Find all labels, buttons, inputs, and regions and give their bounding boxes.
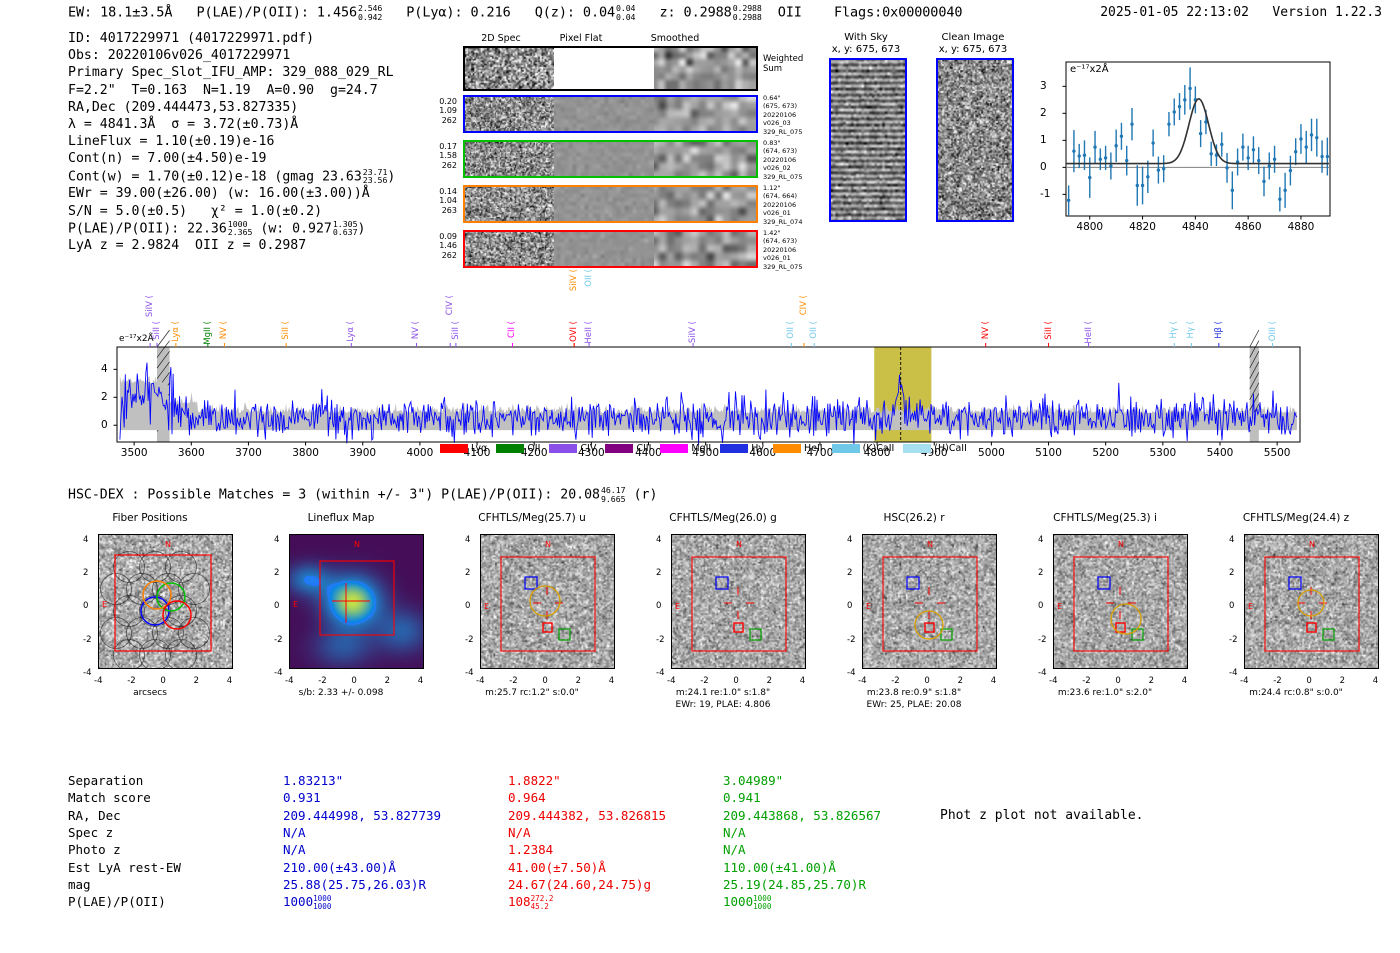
thumbnail-ytick: -4 <box>274 668 282 678</box>
fiber-left-line-2: 262 <box>423 161 457 170</box>
info-cont-wide: Cont(w) = 1.70(±0.12)e-18 (gmag 23.6323.… <box>68 168 395 186</box>
spectrum-line-label-OII: OII ( <box>786 321 796 339</box>
legend-swatch-Lyα <box>440 444 468 453</box>
table-cell-r7-c1: 108272.245.2 <box>508 893 553 911</box>
legend-label-(K)CaII: (K)CaII <box>863 443 895 454</box>
thumbnail-caption-0: arcsecs <box>55 688 245 700</box>
matches-title: HSC-DEX : Possible Matches = 3 (within +… <box>68 486 657 503</box>
thumbnail-ytick: 0 <box>465 601 470 611</box>
thumbnail-caption-line1-3: m:24.1 re:1.0" s:1.8" <box>628 688 818 700</box>
thumbnail-xtick: -4 <box>667 676 675 686</box>
thumbnail-xtick: 4 <box>418 676 423 686</box>
fiber-pixelflat-3 <box>554 232 654 266</box>
fiber-right-label-0: 0.64"(675, 673)20220106v026_03329_RL_075 <box>763 94 825 136</box>
info-primary-slot: Primary Spec_Slot_IFU_AMP: 329_088_029_R… <box>68 64 395 81</box>
svg-text:N: N <box>1309 540 1315 549</box>
thumbnail-xtick: 2 <box>385 676 390 686</box>
emission-xtick: 4880 <box>1288 221 1315 233</box>
fiber-left-line-0: 0.17 <box>423 142 457 151</box>
spectrum-line-label-Hγ: Hγ ( <box>1169 321 1179 338</box>
with-sky-title: With Sky <box>816 32 916 44</box>
thumbnail-xtick: -4 <box>1240 676 1248 686</box>
fiber-strip-3 <box>463 230 758 268</box>
header-z-range: 0.29880.2988 <box>733 4 762 21</box>
two-d-spectra-panel: 2D SpecPixel FlatSmoothedWeighted Sum0.2… <box>415 33 815 248</box>
thumbnail-ytick: 2 <box>1038 568 1043 578</box>
fiber-2dspec-0 <box>465 97 554 131</box>
thumbnail-caption-1: s/b: 2.33 +/- 0.098 <box>246 688 436 700</box>
thumbnail-xtick: 4 <box>1373 676 1378 686</box>
thumbnail-title-6: CFHTLS/Meg(24.4) z <box>1201 512 1391 528</box>
header-summary-line: EW: 18.1±3.5Å P(LAE)/P(OII): 1.4562.5460… <box>68 4 962 21</box>
thumbnail-ytick: 4 <box>274 535 279 545</box>
emission-ytick: 3 <box>1040 80 1047 92</box>
thumbnail-ytick: -4 <box>83 668 91 678</box>
fiber-right-line-2: 20220106 <box>763 201 825 209</box>
table-row-label-2: RA, Dec <box>68 807 121 824</box>
legend-swatch-CIII <box>605 444 633 453</box>
spectrum-line-label-OII: OII ( <box>584 269 594 287</box>
info-plae-range: 10002.365 <box>228 220 253 237</box>
thumbnail-overlay-6: NE <box>1245 535 1378 668</box>
svg-text:N: N <box>927 540 933 549</box>
spectrum-line-label-CII: CII ( <box>507 321 517 338</box>
info-lambda-sigma: λ = 4841.3Å σ = 3.72(±0.73)Å <box>68 116 395 133</box>
emission-line-plot: 48004820484048604880-10123e⁻¹⁷x2Å <box>1036 56 1336 246</box>
header-plya: P(Lyα): 0.216 <box>406 5 510 21</box>
fiber-right-line-0: 1.12" <box>763 184 825 192</box>
with-sky-image <box>829 58 907 222</box>
legend-label-(H)CaII: (H)CaII <box>934 443 967 454</box>
header-plae-label: P(LAE)/P(OII): 1.456 <box>196 5 357 21</box>
fiber-right-line-4: 329_RL_075 <box>763 128 825 136</box>
thumbnail-ytick: -2 <box>847 635 855 645</box>
info-redshifts: LyA z = 2.9824 OII z = 0.2987 <box>68 237 395 254</box>
thumbnail-overlay-2: NE <box>481 535 614 668</box>
emission-xtick: 4860 <box>1235 221 1262 233</box>
fiber-left-line-2: 262 <box>423 116 457 125</box>
spectrum-ytick: 4 <box>101 363 108 375</box>
table-cell-r0-c0: 1.83213" <box>283 772 343 789</box>
table-cell-r2-c2: 209.443868, 53.826567 <box>723 807 881 824</box>
info-radec: RA,Dec (209.444473,53.827335) <box>68 99 395 116</box>
legend-item-(K)CaII: (K)CaII <box>832 443 895 454</box>
spectrum-xtick: 3500 <box>121 447 148 459</box>
table-cell-r6-c2: 25.19(24.85,25.70)R <box>723 876 866 893</box>
fiber-left-label-1: 0.171.58262 <box>423 142 457 170</box>
thumbnail-caption-line1-1: s/b: 2.33 +/- 0.098 <box>246 688 436 700</box>
spectrum-ytick: 2 <box>101 391 108 403</box>
spectrum-line-label-Hβ: Hβ ( <box>1214 321 1224 339</box>
thumbnail-xtick: 0 <box>160 676 165 686</box>
fiber-left-line-0: 0.20 <box>423 97 457 106</box>
thumbnail-caption-6: m:24.4 rc:0.8" s:0.0" <box>1201 688 1391 700</box>
thumbnail-xtick: -4 <box>858 676 866 686</box>
fiber-right-line-2: 20220106 <box>763 156 825 164</box>
table-cell-r0-c1: 1.8822" <box>508 772 561 789</box>
thumbnail-ytick: 2 <box>465 568 470 578</box>
fiber-left-line-1: 1.46 <box>423 241 457 250</box>
thumbnail-title-4: HSC(26.2) r <box>819 512 1009 528</box>
table-row-label-6: mag <box>68 876 91 893</box>
info-ewr: EWr = 39.00(±26.00) (w: 16.00(±3.00))Å <box>68 185 395 202</box>
table-cell-r6-c0: 25.88(25.75,26.03)R <box>283 876 426 893</box>
plae-range: 10001000 <box>313 895 331 911</box>
spec-column-title-0: 2D Spec <box>481 33 521 44</box>
fiber-smoothed-2 <box>654 187 756 221</box>
thumbnail-xtick: 0 <box>1306 676 1311 686</box>
emission-ytick: 2 <box>1040 107 1047 119</box>
legend-swatch-MgII <box>660 444 688 453</box>
weighted-sum-smoothed <box>654 48 756 89</box>
detection-info-block: ID: 4017229971 (4017229971.pdf)Obs: 2022… <box>68 30 395 255</box>
spectrum-line-label-SiIV: SiIV ( <box>688 321 698 343</box>
fiber-smoothed-0 <box>654 97 756 131</box>
legend-swatch-(H)CaII <box>903 444 931 453</box>
thumbnail-xtick: 0 <box>1115 676 1120 686</box>
table-cell-r2-c1: 209.444382, 53.826815 <box>508 807 666 824</box>
thumbnail-ytick: 4 <box>847 535 852 545</box>
spectrum-line-label-SiIV: SiIV ( <box>569 269 579 291</box>
emission-ytick: 1 <box>1040 134 1047 146</box>
weighted-sum-strip <box>463 46 758 91</box>
thumbnail-xtick: 0 <box>351 676 356 686</box>
legend-label-CIII: CIII <box>636 443 651 454</box>
thumbnail-caption-3: m:24.1 re:1.0" s:1.8"EWr: 19, PLAE: 4.80… <box>628 688 818 711</box>
thumbnail-panel-6[interactable]: CFHTLS/Meg(24.4) zNE420-2-4-4-2024m:24.4… <box>1201 512 1391 669</box>
with-sky-coords: x, y: 675, 673 <box>816 44 916 56</box>
header-ew: EW: 18.1±3.5Å <box>68 5 172 21</box>
thumbnail-ytick: 0 <box>656 601 661 611</box>
legend-swatch-CIV <box>549 444 577 453</box>
spectrum-xtick: 5200 <box>1092 447 1119 459</box>
thumbnail-panel-3[interactable]: CFHTLS/Meg(26.0) gNE420-2-4-4-2024m:24.1… <box>628 512 818 669</box>
fiber-right-label-2: 1.12"(674, 664)20220106v026_01329_RL_074 <box>763 184 825 226</box>
emission-flux-units: e⁻¹⁷x2Å <box>1070 64 1109 75</box>
thumbnail-xtick: -2 <box>1273 676 1281 686</box>
thumbnail-xtick: 0 <box>542 676 547 686</box>
weighted-sum-2dspec <box>465 48 554 89</box>
svg-text:E: E <box>293 600 298 609</box>
thumbnail-ytick: 2 <box>847 568 852 578</box>
spectrum-line-label-Lyα: Lyα ( <box>171 321 181 342</box>
info-gmag-range: 23.7123.56 <box>363 168 388 185</box>
thumbnail-overlay-1: NE <box>290 535 423 668</box>
svg-text:E: E <box>102 600 107 609</box>
fiber-left-label-2: 0.141.04263 <box>423 187 457 215</box>
legend-swatch-OII <box>496 444 524 453</box>
spectrum-xtick: 5500 <box>1264 447 1291 459</box>
spectrum-line-label-CIV: CIV ( <box>799 295 809 315</box>
thumbnail-caption-line1-5: m:23.6 re:1.0" s:2.0" <box>1010 688 1200 700</box>
thumbnail-image-4[interactable]: NE <box>862 534 997 669</box>
header-z-kind: OII <box>778 5 802 21</box>
legend-swatch-HeII <box>773 444 801 453</box>
fiber-pixelflat-0 <box>554 97 654 131</box>
legend-item-MgII: MgII <box>660 443 711 454</box>
thumbnail-ytick: 0 <box>274 601 279 611</box>
table-cell-r1-c1: 0.964 <box>508 789 546 806</box>
thumbnail-panel-2[interactable]: CFHTLS/Meg(25.7) uNE420-2-4-4-2024m:25.7… <box>437 512 627 669</box>
table-cell-r5-c0: 210.00(±43.00)Å <box>283 859 396 876</box>
thumbnail-ytick: -2 <box>1038 635 1046 645</box>
spectrum-legend: LyαOIICIVCIIIMgIIHγHeII(K)CaII(H)CaII <box>440 443 967 454</box>
table-cell-r7-c0: 100010001000 <box>283 893 331 911</box>
fiber-smoothed-1 <box>654 142 756 176</box>
spectrum-line-label-NV: NV ( <box>981 321 991 339</box>
thumbnail-xtick: 4 <box>227 676 232 686</box>
thumbnail-ytick: 4 <box>1038 535 1043 545</box>
table-cell-r5-c2: 110.00(±41.00)Å <box>723 859 836 876</box>
table-cell-r3-c1: N/A <box>508 824 531 841</box>
plae-range: 10001000 <box>753 895 771 911</box>
clean-image-title: Clean Image <box>918 32 1028 44</box>
thumbnail-caption-4: m:23.8 re:0.9" s:1.8"EWr: 25, PLAE: 20.0… <box>819 688 1009 711</box>
info-seeing-throughput: F=2.2" T=0.163 N=1.19 A=0.90 g=24.7 <box>68 82 395 99</box>
thumbnail-xtick: 0 <box>924 676 929 686</box>
thumbnail-xtick: 0 <box>733 676 738 686</box>
info-sn-chi2: S/N = 5.0(±0.5) χ² = 1.0(±0.2) <box>68 203 395 220</box>
weighted-sum-label: Weighted Sum <box>763 54 803 74</box>
table-row-label-0: Separation <box>68 772 143 789</box>
svg-text:E: E <box>675 602 680 611</box>
legend-label-Lyα: Lyα <box>471 443 487 454</box>
thumbnail-image-6[interactable]: NE <box>1244 534 1379 669</box>
thumbnail-caption-line1-4: m:23.8 re:0.9" s:1.8" <box>819 688 1009 700</box>
spectrum-xtick: 3900 <box>349 447 376 459</box>
svg-text:N: N <box>545 540 551 549</box>
header-flags: Flags:0x00000040 <box>834 5 962 21</box>
table-row-label-4: Photo z <box>68 841 121 858</box>
legend-item-OII: OII <box>496 443 540 454</box>
emission-line-svg <box>1036 56 1336 246</box>
fiber-2dspec-2 <box>465 187 554 221</box>
table-cell-r4-c1: 1.2384 <box>508 841 553 858</box>
table-cell-r1-c2: 0.941 <box>723 789 761 806</box>
thumbnail-xtick: 2 <box>767 676 772 686</box>
thumbnail-overlay-4: NE <box>863 535 996 668</box>
clean-image-coords: x, y: 675, 673 <box>918 44 1028 56</box>
fiber-2dspec-1 <box>465 142 554 176</box>
spectrum-xtick: 5300 <box>1149 447 1176 459</box>
thumbnail-title-0: Fiber Positions <box>55 512 245 528</box>
plae-lo: 1000 <box>313 903 331 911</box>
emission-xtick: 4840 <box>1182 221 1209 233</box>
thumbnail-panel-0[interactable]: Fiber PositionsNE420-2-4-4-2024arcsecs <box>55 512 245 669</box>
thumbnail-title-2: CFHTLS/Meg(25.7) u <box>437 512 627 528</box>
thumbnail-xtick: 4 <box>800 676 805 686</box>
table-cell-r7-c2: 100010001000 <box>723 893 771 911</box>
fiber-right-label-3: 1.42"(674, 673)20220106v026_01329_RL_075 <box>763 229 825 271</box>
fiber-left-line-2: 262 <box>423 251 457 260</box>
svg-text:N: N <box>1118 540 1124 549</box>
fiber-left-line-1: 1.04 <box>423 196 457 205</box>
legend-item-CIII: CIII <box>605 443 651 454</box>
spectrum-line-label-OVI: OVI ( <box>569 321 579 342</box>
svg-text:E: E <box>1248 602 1253 611</box>
spectrum-line-label-SiII: SiII ( <box>451 321 461 340</box>
thumbnail-image-5[interactable]: NE <box>1053 534 1188 669</box>
thumbnail-image-1[interactable]: NE <box>289 534 424 669</box>
fiber-left-line-2: 263 <box>423 206 457 215</box>
spectrum-line-label-MgII: MgII ( <box>203 321 213 345</box>
thumbnail-xtick: -2 <box>509 676 517 686</box>
thumbnail-xtick: -2 <box>318 676 326 686</box>
svg-text:E: E <box>484 602 489 611</box>
thumbnail-title-3: CFHTLS/Meg(26.0) g <box>628 512 818 528</box>
spectrum-line-label-CIV: CIV ( <box>445 295 455 315</box>
svg-text:N: N <box>354 540 360 549</box>
thumbnail-xtick: 2 <box>194 676 199 686</box>
svg-text:E: E <box>1057 602 1062 611</box>
fiber-pixelflat-2 <box>554 187 654 221</box>
table-row-label-3: Spec z <box>68 824 113 841</box>
spectrum-line-label-SiII: SiII ( <box>1044 321 1054 340</box>
spectrum-ytick: 0 <box>101 419 108 431</box>
thumbnail-image-2[interactable]: NE <box>480 534 615 669</box>
thumbnail-xtick: 2 <box>576 676 581 686</box>
thumbnail-xtick: -4 <box>94 676 102 686</box>
thumbnail-image-0[interactable]: NE <box>98 534 233 669</box>
thumbnail-xtick: -4 <box>476 676 484 686</box>
thumbnail-caption-line2-4: EWr: 25, PLAE: 20.08 <box>819 700 1009 712</box>
thumbnail-ytick: 4 <box>465 535 470 545</box>
thumbnail-ytick: 2 <box>1229 568 1234 578</box>
thumbnail-ytick: 0 <box>83 601 88 611</box>
svg-text:E: E <box>866 602 871 611</box>
thumbnail-ytick: -2 <box>274 635 282 645</box>
thumbnail-ytick: -4 <box>1038 668 1046 678</box>
thumbnail-title-5: CFHTLS/Meg(25.3) i <box>1010 512 1200 528</box>
plae-lo: 45.2 <box>531 903 554 911</box>
legend-item-Hγ: Hγ <box>720 443 764 454</box>
plae-value: 108 <box>508 894 531 909</box>
header-z: z: 0.2988 <box>659 5 731 21</box>
fiber-right-line-4: 329_RL_075 <box>763 173 825 181</box>
fiber-left-line-0: 0.09 <box>423 232 457 241</box>
spectrum-xtick: 5000 <box>978 447 1005 459</box>
thumbnail-overlay-5: NE <box>1054 535 1187 668</box>
legend-item-CIV: CIV <box>549 443 596 454</box>
plae-range: 272.245.2 <box>531 895 554 911</box>
thumbnail-xtick: 4 <box>609 676 614 686</box>
thumbnail-ytick: 2 <box>83 568 88 578</box>
spectrum-line-label-NV: NV ( <box>219 321 229 339</box>
emission-xtick: 4800 <box>1076 221 1103 233</box>
plae-value: 1000 <box>723 894 753 909</box>
thumbnail-xtick: 4 <box>1182 676 1187 686</box>
legend-item-HeII: HeII <box>773 443 823 454</box>
info-obs: Obs: 20220106v026_4017229971 <box>68 47 395 64</box>
spectrum-line-label-Hγ: Hγ ( <box>1186 321 1196 338</box>
fiber-right-line-1: (674, 664) <box>763 192 825 200</box>
spectrum-line-label-NV: NV ( <box>411 321 421 339</box>
thumbnail-ytick: 4 <box>83 535 88 545</box>
emission-ytick: -1 <box>1040 188 1050 200</box>
fiber-strip-1 <box>463 140 758 178</box>
spectrum-xtick: 4000 <box>407 447 434 459</box>
matches-plae-range: 46.179.665 <box>601 486 626 503</box>
thumbnail-overlay-3: NE <box>672 535 805 668</box>
emission-xtick: 4820 <box>1129 221 1156 233</box>
thumbnail-panel-4[interactable]: HSC(26.2) rNE420-2-4-4-2024m:23.8 re:0.9… <box>819 512 1009 669</box>
thumbnail-caption-line1-0: arcsecs <box>55 688 245 700</box>
legend-item-(H)CaII: (H)CaII <box>903 443 967 454</box>
thumbnail-caption-5: m:23.6 re:1.0" s:2.0" <box>1010 688 1200 700</box>
weighted-sum-pixelflat <box>554 48 654 89</box>
spectrum-line-label-SiII: SiII ( <box>281 321 291 340</box>
fiber-strip-2 <box>463 185 758 223</box>
fiber-right-line-0: 0.83" <box>763 139 825 147</box>
thumbnail-ytick: 4 <box>656 535 661 545</box>
fiber-right-label-1: 0.83"(674, 673)20220106v026_02329_RL_075 <box>763 139 825 181</box>
fiber-smoothed-3 <box>654 232 756 266</box>
spectrum-line-label-HeII: HeII ( <box>584 321 594 344</box>
header-version: Version 1.22.3 <box>1272 5 1382 20</box>
thumbnail-xtick: -2 <box>891 676 899 686</box>
thumbnail-panel-5[interactable]: CFHTLS/Meg(25.3) iNE420-2-4-4-2024m:23.6… <box>1010 512 1200 669</box>
header-timestamp: 2025-01-05 22:13:02 <box>1100 5 1249 20</box>
fiber-right-line-2: 20220106 <box>763 111 825 119</box>
legend-label-HeII: HeII <box>804 443 823 454</box>
fiber-right-line-1: (674, 673) <box>763 237 825 245</box>
legend-label-OII: OII <box>527 443 540 454</box>
thumbnail-xtick: -2 <box>1082 676 1090 686</box>
info-cont-narrow: Cont(n) = 7.00(±4.50)e-19 <box>68 150 395 167</box>
thumbnail-xtick: 2 <box>1149 676 1154 686</box>
info-plae: P(LAE)/P(OII): 22.3610002.365 (w: 0.9271… <box>68 220 395 238</box>
svg-text:N: N <box>736 540 742 549</box>
thumbnail-xtick: -4 <box>1049 676 1057 686</box>
fiber-left-line-1: 1.09 <box>423 106 457 115</box>
fiber-right-line-4: 329_RL_074 <box>763 218 825 226</box>
legend-label-Hγ: Hγ <box>751 443 764 454</box>
table-cell-r3-c2: N/A <box>723 824 746 841</box>
fiber-strip-0 <box>463 95 758 133</box>
fiber-left-line-0: 0.14 <box>423 187 457 196</box>
thumbnail-image-3[interactable]: NE <box>671 534 806 669</box>
fiber-right-line-0: 1.42" <box>763 229 825 237</box>
table-cell-r1-c0: 0.931 <box>283 789 321 806</box>
table-cell-r4-c2: N/A <box>723 841 746 858</box>
fiber-right-line-2: 20220106 <box>763 246 825 254</box>
thumbnail-xtick: -4 <box>285 676 293 686</box>
table-cell-r6-c1: 24.67(24.60,24.75)g <box>508 876 651 893</box>
thumbnail-ytick: 2 <box>274 568 279 578</box>
thumbnail-ytick: 0 <box>847 601 852 611</box>
thumbnail-panel-1[interactable]: Lineflux MapNE420-2-4-4-2024s/b: 2.33 +/… <box>246 512 436 669</box>
spectrum-line-label-OIII: OIII ( <box>1268 321 1278 341</box>
fiber-right-line-1: (675, 673) <box>763 102 825 110</box>
thumbnail-xtick: -2 <box>127 676 135 686</box>
thumbnail-xtick: 4 <box>991 676 996 686</box>
legend-label-MgII: MgII <box>691 443 711 454</box>
plae-value: 1000 <box>283 894 313 909</box>
table-row-label-1: Match score <box>68 789 151 806</box>
info-lineflux: LineFlux = 1.10(±0.19)e-16 <box>68 133 395 150</box>
fiber-right-line-3: v026_01 <box>763 209 825 217</box>
plae-lo: 1000 <box>753 903 771 911</box>
thumbnail-title-1: Lineflux Map <box>246 512 436 528</box>
spectrum-line-label-HeII: HeII ( <box>1084 321 1094 344</box>
header-qz: Q(z): 0.04 <box>535 5 615 21</box>
thumbnail-caption-line1-6: m:24.4 rc:0.8" s:0.0" <box>1201 688 1391 700</box>
thumbnail-caption-2: m:25.7 rc:1.2" s:0.0" <box>437 688 627 700</box>
thumbnail-ytick: 2 <box>656 568 661 578</box>
table-row-label-5: Est LyA rest-EW <box>68 859 181 876</box>
thumbnail-caption-line1-2: m:25.7 rc:1.2" s:0.0" <box>437 688 627 700</box>
fiber-right-line-3: v026_02 <box>763 164 825 172</box>
